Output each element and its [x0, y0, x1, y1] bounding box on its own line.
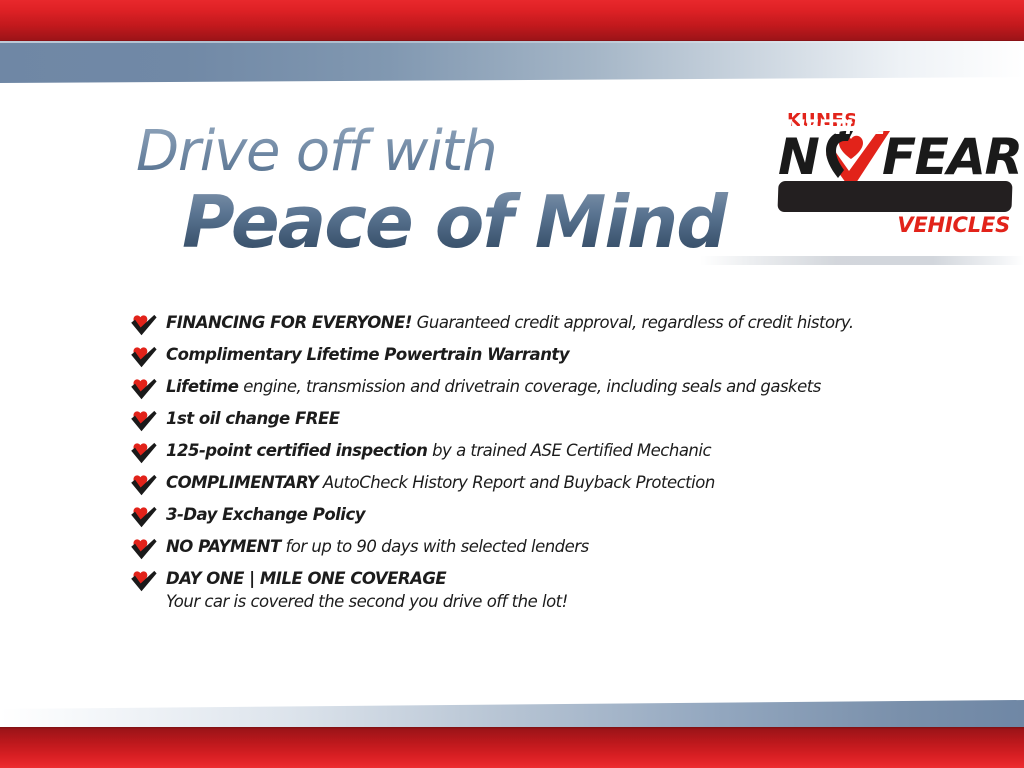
- benefit-rest: for up to 90 days with selected lenders: [281, 537, 589, 556]
- benefit-bold: Complimentary Lifetime Powertrain Warran…: [166, 345, 569, 364]
- benefit-item-autocheck: COMPLIMENTARY AutoCheck History Report a…: [130, 470, 990, 502]
- heart-check-bullet-icon: [130, 345, 158, 369]
- benefit-text: COMPLIMENTARY AutoCheck History Report a…: [166, 470, 990, 494]
- logo-lifetime-certified-text: LIFETIME CERTIFIED: [777, 112, 1012, 143]
- benefit-bold: 3-Day Exchange Policy: [166, 505, 365, 524]
- kunes-no-fear-logo: KUNES N FEAR LIFETIME CERTIFIED VEHICLES: [778, 112, 1012, 244]
- promo-banner-page: Drive off with Peace of Mind KUNES N FEA…: [0, 0, 1024, 768]
- benefit-bold: DAY ONE | MILE ONE COVERAGE: [166, 569, 446, 588]
- top-gray-bar: [0, 41, 1024, 83]
- benefit-rest: by a trained ASE Certified Mechanic: [427, 441, 711, 460]
- benefit-bold: FINANCING FOR EVERYONE!: [166, 313, 412, 332]
- heart-check-bullet-icon: [130, 441, 158, 465]
- benefit-rest: engine, transmission and drivetrain cove…: [238, 377, 820, 396]
- heart-check-bullet-icon: [130, 473, 158, 497]
- benefit-item-exchange-policy: 3-Day Exchange Policy: [130, 502, 990, 534]
- benefits-list: FINANCING FOR EVERYONE! Guaranteed credi…: [130, 310, 990, 620]
- benefit-rest: AutoCheck History Report and Buyback Pro…: [318, 473, 715, 492]
- benefit-text: 125-point certified inspection by a trai…: [166, 438, 990, 462]
- heart-check-bullet-icon: [130, 409, 158, 433]
- logo-word-vehicles: VEHICLES: [897, 215, 1010, 236]
- heart-check-bullet-icon: [130, 313, 158, 337]
- benefit-bold: 125-point certified inspection: [166, 441, 427, 460]
- bottom-gray-bar: [0, 700, 1024, 728]
- benefit-item-day-one-mile-one: DAY ONE | MILE ONE COVERAGE Your car is …: [130, 566, 990, 620]
- benefit-subtext: Your car is covered the second you drive…: [166, 590, 990, 613]
- benefit-text: Complimentary Lifetime Powertrain Warran…: [166, 342, 990, 366]
- headline-divider: [700, 256, 1024, 265]
- benefit-text: 1st oil change FREE: [166, 406, 990, 430]
- benefit-rest: Guaranteed credit approval, regardless o…: [412, 313, 854, 332]
- benefit-bold: Lifetime: [166, 377, 238, 396]
- benefit-item-powertrain-warranty: Complimentary Lifetime Powertrain Warran…: [130, 342, 990, 374]
- top-red-bar: [0, 0, 1024, 41]
- benefit-text: FINANCING FOR EVERYONE! Guaranteed credi…: [166, 310, 990, 334]
- benefit-text: DAY ONE | MILE ONE COVERAGE: [166, 566, 990, 590]
- heart-check-bullet-icon: [130, 377, 158, 401]
- heart-check-bullet-icon: [130, 569, 158, 593]
- benefit-item-financing: FINANCING FOR EVERYONE! Guaranteed credi…: [130, 310, 990, 342]
- bottom-red-bar: [0, 727, 1024, 768]
- benefit-item-lifetime-coverage: Lifetime engine, transmission and drivet…: [130, 374, 990, 406]
- benefit-bold: NO PAYMENT: [166, 537, 281, 556]
- headline-line-2: Peace of Mind: [182, 186, 776, 259]
- benefit-bold: COMPLIMENTARY: [166, 473, 318, 492]
- benefit-text: Lifetime engine, transmission and drivet…: [166, 374, 990, 398]
- logo-lifetime-certified-bar: [777, 181, 1012, 212]
- benefit-item-oil-change: 1st oil change FREE: [130, 406, 990, 438]
- benefit-item-no-payment: NO PAYMENT for up to 90 days with select…: [130, 534, 990, 566]
- benefit-text: 3-Day Exchange Policy: [166, 502, 990, 526]
- benefit-bold: 1st oil change FREE: [166, 409, 340, 428]
- heart-check-bullet-icon: [130, 537, 158, 561]
- benefit-text: NO PAYMENT for up to 90 days with select…: [166, 534, 990, 558]
- headline-block: Drive off with Peace of Mind: [136, 124, 776, 259]
- heart-check-bullet-icon: [130, 505, 158, 529]
- benefit-item-inspection: 125-point certified inspection by a trai…: [130, 438, 990, 470]
- headline-line-1: Drive off with: [136, 124, 776, 180]
